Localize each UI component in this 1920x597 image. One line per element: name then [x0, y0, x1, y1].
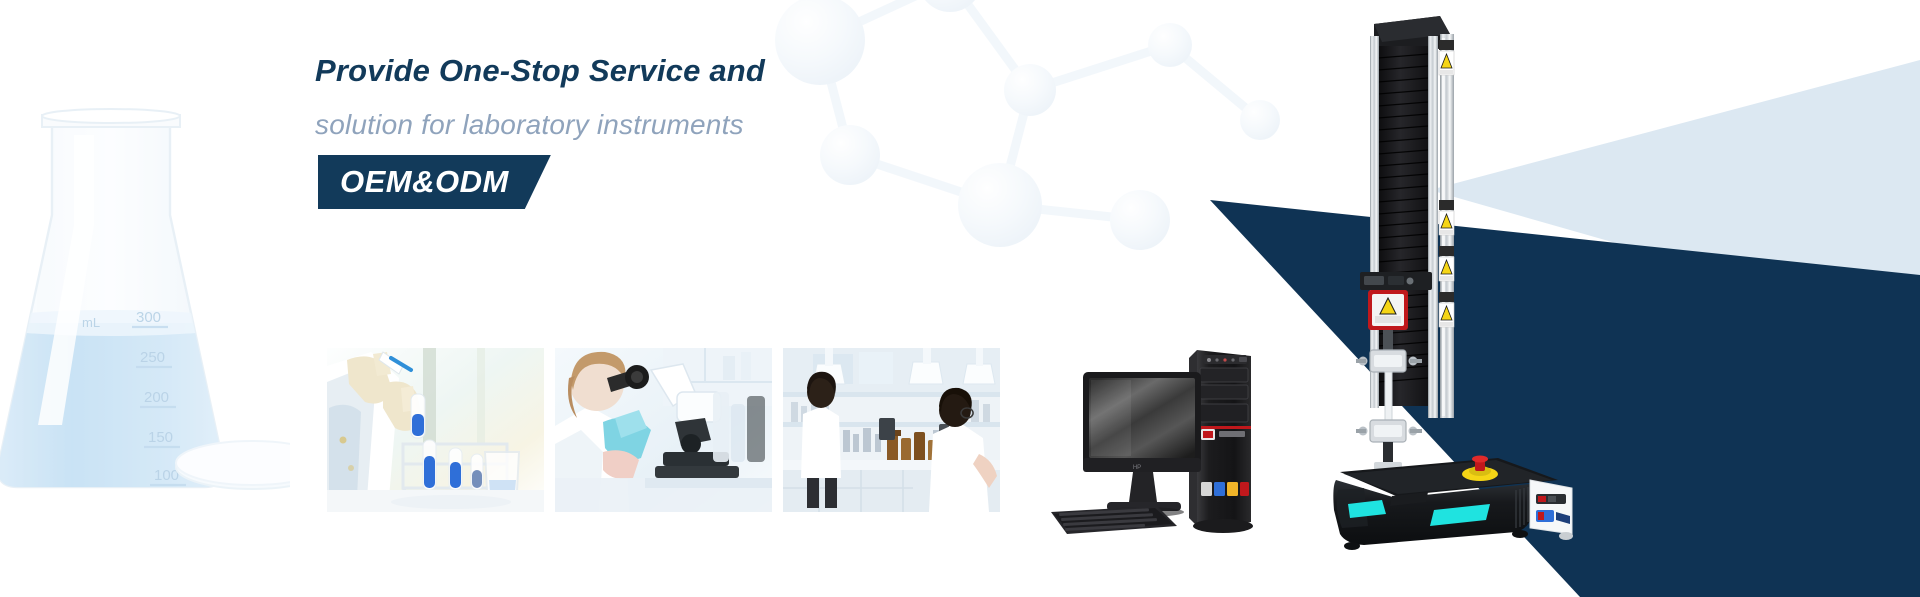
svg-text:100: 100 — [154, 467, 179, 484]
photo-microscope — [555, 348, 772, 512]
svg-text:150: 150 — [148, 429, 173, 446]
photo-lab-bench — [783, 348, 1000, 512]
svg-text:300: 300 — [136, 309, 161, 326]
triangle-light-arrow — [1160, 0, 1920, 597]
svg-text:mL: mL — [82, 315, 100, 330]
svg-text:HP: HP — [1133, 465, 1141, 471]
photo-strip — [327, 348, 1000, 512]
svg-text:200: 200 — [144, 389, 169, 406]
desktop-computer: HP — [1045, 330, 1295, 545]
headline-secondary: solution for laboratory instruments — [315, 110, 1015, 139]
erlenmeyer-flask: 300 250 200 150 100 mL — [0, 95, 290, 515]
svg-text:250: 250 — [140, 349, 165, 366]
photo-pipetting — [327, 348, 544, 512]
universal-testing-machine — [1330, 10, 1580, 555]
oem-odm-badge: OEM&ODM — [318, 155, 551, 209]
triangle-dark-arrow — [1020, 0, 1920, 597]
headline-block: Provide One-Stop Service and solution fo… — [315, 55, 1015, 209]
headline-primary: Provide One-Stop Service and — [315, 55, 1015, 88]
hero-banner: 300 250 200 150 100 mL Provide One-Stop … — [0, 0, 1920, 597]
